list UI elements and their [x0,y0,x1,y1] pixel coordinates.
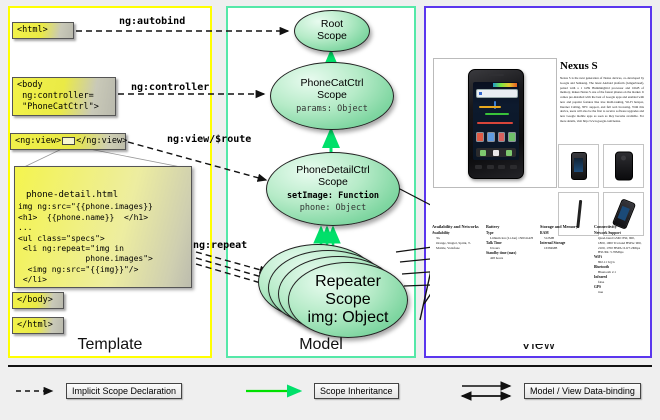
spec-heading: Battery [486,224,534,230]
legend-label: Implicit Scope Declaration [66,383,182,399]
scope-phonedet-prop2: phone: Object [300,203,367,213]
phone-statusbar [493,83,517,87]
app-icon [498,132,506,142]
phone-back-icon [615,152,633,181]
spec-column-storage: Storage and Memory RAM 512MB Internal St… [540,224,588,295]
spec-column-availability: Availability and Networks Availability 3… [432,224,480,295]
tag-html-close: </html> [12,317,64,334]
wallpaper-line-blue [494,101,496,109]
edge-label-controller: ng:controller [131,82,209,93]
spec-column-connectivity: Connectivity Network Support Quad-band G… [594,224,642,295]
wallpaper-line-yellow [479,106,501,108]
scope-repeater-line2: Scope [325,291,370,308]
hardware-button [510,165,517,169]
dock-icon [493,150,499,156]
spec-value: Quad-band GSM: 850, 900, 1800, 1900 Tri-… [594,236,642,255]
scope-repeater-stack: Repeater Scope img: Object [258,244,408,336]
scope-repeater: Repeater Scope img: Object [288,262,408,338]
dock-icon [506,150,512,156]
thumbnail-grid [558,144,644,236]
view-rendered-page: Nexus S Nexus S is the next generation o… [430,14,646,344]
app-icon [476,132,484,142]
legend-item-data-binding: Model / View Data-binding [462,381,641,401]
edge-label-route: ng:view/$route [167,134,251,145]
spec-heading: Storage and Memory [540,224,588,230]
legend-label: Scope Inheritance [314,383,399,399]
phone-detail-note-title: phone-detail.html [18,190,188,202]
phone-earpiece [488,74,504,76]
panel-template-title: Template [10,336,210,354]
scope-root: Root Scope [294,10,370,52]
scope-phonedet-line2: Scope [318,176,348,188]
phone-detail-note-code: img ng:src="{{phone.images}} <h1> {{phon… [18,202,153,288]
scope-root-line2: Scope [317,30,347,42]
phone-device-icon [468,69,524,179]
spec-value: 16384MB [540,246,588,251]
spec-value: Orange, Singtel, Sprint, T-Mobile, Vodaf… [432,241,480,251]
legend-divider [8,365,652,367]
product-description: Nexus S is the next generation of Nexus … [560,76,644,124]
spec-value: true [594,290,642,295]
phone-app-icon-row [476,132,516,142]
scope-phonedet-line1: PhoneDetailCtrl [296,164,370,176]
scope-phonecat-line2: Scope [317,89,347,101]
tag-ngview: <ng:view></ng:view> [10,133,126,150]
legend-item-implicit-scope: Implicit Scope Declaration [16,381,182,401]
tag-html-open: <html> [12,22,74,39]
product-title: Nexus S [560,60,598,72]
phone-dock [476,148,516,157]
legend-label: Model / View Data-binding [524,383,641,399]
phone-detail-note: phone-detail.htmlimg ng:src="{{phone.ima… [14,166,192,288]
thumbnail-phone-back[interactable] [603,144,644,188]
spec-value: 428 hours [486,256,534,261]
scope-phonedet-prop1: setImage: Function [287,191,379,201]
tag-body-close: </body> [12,292,64,309]
ngview-slot-placeholder [62,137,75,145]
phone-hero-image [433,58,557,188]
scope-root-line1: Root [321,18,343,30]
hardware-button [498,165,505,169]
scope-repeater-line1: Repeater [315,273,381,290]
hardware-button [475,165,482,169]
dock-icon [480,150,486,156]
phone-search-widget [476,89,518,98]
diagram-stage: Template Model View [0,0,660,420]
app-icon [508,132,516,142]
app-icon [487,132,495,142]
spec-heading: Connectivity [594,224,642,230]
spec-column-battery: Battery Type Lithium Ion (Li-Ion) 1500 m… [486,224,534,295]
tag-ngview-close: </ng:view> [76,136,127,146]
tag-body-open: <body ng:controller= "PhoneCatCtrl"> [12,77,116,116]
panel-model-title: Model [228,336,414,354]
hardware-button [487,165,494,169]
edge-label-repeat: ng:repeat [193,240,247,251]
scope-phonecat-prop: params: Object [296,104,368,114]
phone-front-icon [571,152,587,180]
spec-heading: Availability and Networks [432,224,480,230]
phone-screen [473,82,519,160]
legend-item-scope-inheritance: Scope Inheritance [246,381,399,401]
wallpaper-line-red [477,122,513,124]
wallpaper-line-green [485,113,509,115]
scope-repeater-prop: img: Object [308,309,389,327]
edge-label-autobind: ng:autobind [119,16,185,27]
scope-phonecat-line1: PhoneCatCtrl [300,77,363,89]
thumbnail-phone-front[interactable] [558,144,599,188]
scope-phonedetailctrl: PhoneDetailCtrl Scope setImage: Function… [266,152,400,226]
phone-hardware-buttons [475,165,517,171]
scope-phonecatctrl: PhoneCatCtrl Scope params: Object [270,62,394,130]
specs-table: Availability and Networks Availability 3… [432,224,644,295]
tag-ngview-open: <ng:view> [15,136,61,146]
